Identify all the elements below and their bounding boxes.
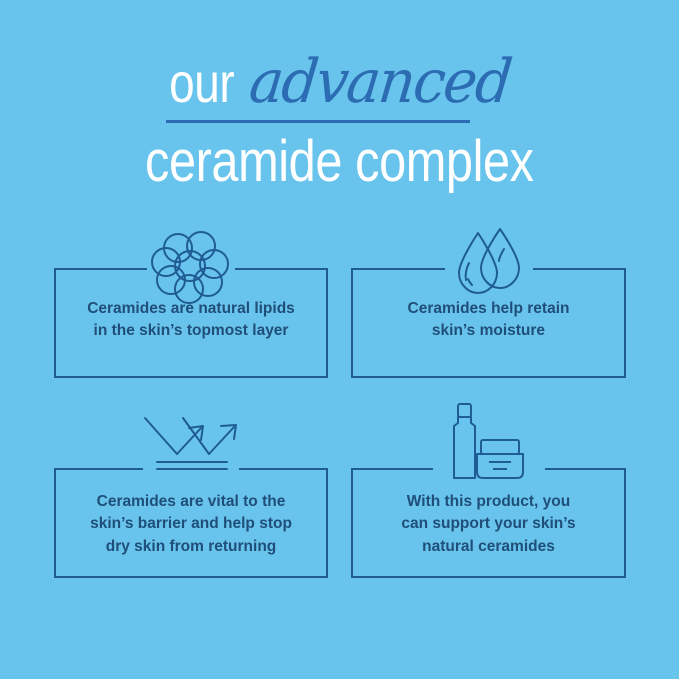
title-underline xyxy=(166,120,470,123)
card-text-line-2: in the skin’s topmost layer xyxy=(54,320,328,342)
card-text: With this product, you can support your … xyxy=(351,491,626,558)
card-text-line-1: With this product, you xyxy=(351,491,626,513)
ceramide-molecule-cluster-icon xyxy=(148,226,234,311)
title-line-2: ceramide complex xyxy=(0,130,679,194)
card-text-line-1: Ceramides are vital to the xyxy=(54,491,328,513)
card-text-line-2: can support your skin’s xyxy=(351,513,626,535)
bottle-and-jar-product-icon xyxy=(435,402,543,487)
infographic-page: our advanced ceramide complex Ceramides … xyxy=(0,0,679,679)
card-text-line-3: dry skin from returning xyxy=(54,536,328,558)
title-line-1: our advanced xyxy=(0,52,679,118)
card-text-line-3: natural ceramides xyxy=(351,536,626,558)
info-card-ceramides-lipids: Ceramides are natural lipids in the skin… xyxy=(54,268,328,378)
info-card-moisture-retention: Ceramides help retain skin’s moisture xyxy=(351,268,626,378)
card-text-line-2: skin’s moisture xyxy=(351,320,626,342)
card-text: Ceramides are vital to the skin’s barrie… xyxy=(54,491,328,558)
info-card-product-support: With this product, you can support your … xyxy=(351,468,626,578)
title-line-2-text: ceramide complex xyxy=(145,130,534,194)
card-text-line-2: skin’s barrier and help stop xyxy=(54,513,328,535)
skin-barrier-deflect-arrows-icon xyxy=(139,412,243,479)
page-title: our advanced xyxy=(0,52,679,118)
title-word-advanced-script: advanced xyxy=(247,52,514,112)
water-droplets-icon xyxy=(448,223,530,310)
info-card-skin-barrier: Ceramides are vital to the skin’s barrie… xyxy=(54,468,328,578)
title-word-our: our xyxy=(169,55,234,111)
